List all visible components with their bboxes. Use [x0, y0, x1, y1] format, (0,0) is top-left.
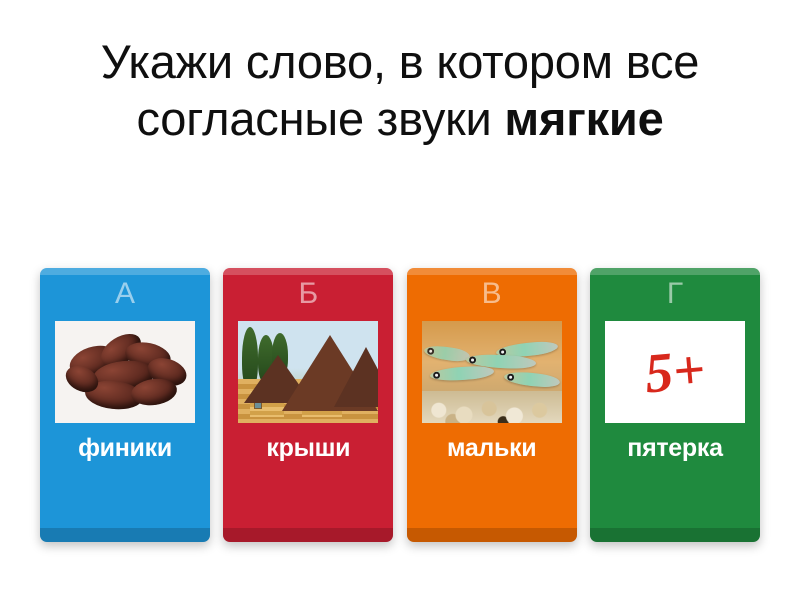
answer-label-a: финики: [78, 435, 172, 463]
answer-card-d-content: Г 5+ пятерка: [590, 268, 760, 542]
answer-card-c-content: В мальки: [407, 268, 577, 542]
grade-five-plus-image: 5+: [605, 321, 745, 423]
fish-fry-image: [422, 321, 562, 423]
roofs-image: [238, 321, 378, 423]
answer-card-b[interactable]: Б крыши: [223, 268, 393, 542]
answer-options-row: А финики Б крыши В: [40, 268, 760, 548]
answer-card-a-content: А финики: [40, 268, 210, 542]
answer-label-b: крыши: [266, 435, 350, 463]
answer-card-c[interactable]: В мальки: [407, 268, 577, 542]
dates-image: [55, 321, 195, 423]
answer-letter-c: В: [482, 279, 502, 309]
answer-letter-d: Г: [667, 279, 683, 309]
answer-letter-b: Б: [298, 279, 318, 309]
answer-card-d[interactable]: Г 5+ пятерка: [590, 268, 760, 542]
answer-card-a[interactable]: А финики: [40, 268, 210, 542]
grade-mark-text: 5+: [643, 341, 708, 402]
answer-label-d: пятерка: [627, 435, 722, 463]
answer-card-b-content: Б крыши: [223, 268, 393, 542]
answer-label-c: мальки: [447, 435, 536, 463]
answer-letter-a: А: [115, 279, 135, 309]
question-text-emphasis: мягкие: [504, 92, 663, 145]
page-title: Укажи слово, в котором все согласные зву…: [20, 34, 780, 148]
